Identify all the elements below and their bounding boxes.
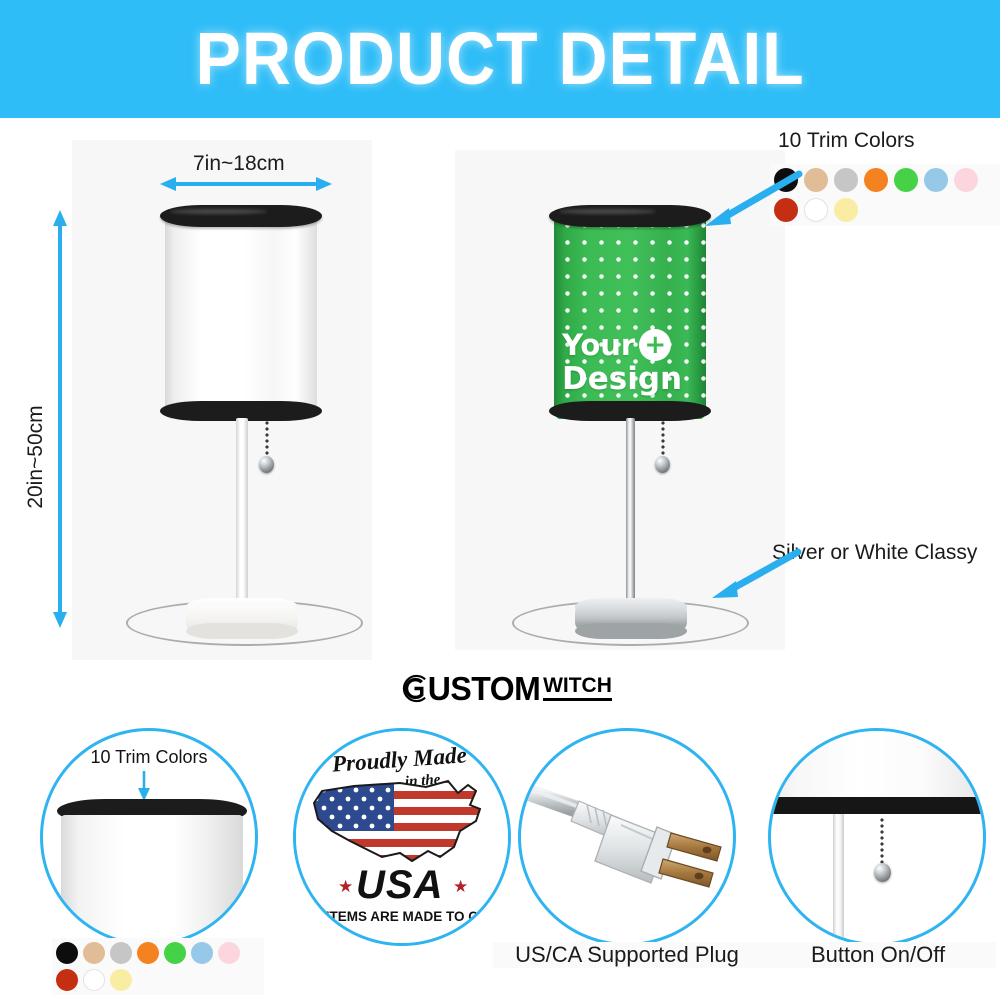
trim-swatch-orange[interactable] — [864, 168, 888, 192]
trim-swatch-light-blue[interactable] — [191, 942, 213, 964]
pull-chain-ball[interactable] — [655, 456, 670, 473]
panel-plug-caption: US/CA Supported Plug — [493, 942, 761, 968]
shade-bottom-surface — [768, 728, 986, 799]
panel-trim-colors: 10 Trim Colors — [40, 728, 258, 946]
trim-swatch-yellow[interactable] — [110, 969, 132, 991]
trim-swatch-brick-red[interactable] — [56, 969, 78, 991]
header-banner: PRODUCT DETAIL — [0, 0, 1000, 118]
height-dimension-label: 20in~50cm — [24, 377, 48, 537]
trim-swatch-green[interactable] — [164, 942, 186, 964]
trim-swatch-white[interactable] — [83, 969, 105, 991]
lamp-base-bottom — [186, 623, 298, 639]
trim-swatch-yellow[interactable] — [834, 198, 858, 222]
star-left-icon: ★ — [338, 877, 353, 897]
trim-swatch-pink[interactable] — [218, 942, 240, 964]
logo-witch-text: WITCH — [543, 675, 612, 696]
lamp-base-bottom — [575, 623, 687, 639]
height-dimension-arrow — [52, 210, 68, 628]
logo-underline — [543, 698, 612, 701]
shade-trim-top — [160, 205, 322, 227]
trim-colors-swatch-row-bottom — [52, 938, 264, 995]
panel-switch-content — [771, 731, 983, 943]
panel-trim-colors-label: 10 Trim Colors — [43, 747, 255, 768]
trim-swatch-green[interactable] — [894, 168, 918, 192]
panel-trim-colors-arrow — [136, 771, 152, 801]
page-title: PRODUCT DETAIL — [195, 22, 804, 96]
trim-callout-arrow — [695, 168, 810, 230]
design-line-1: Your — [562, 331, 635, 360]
pull-chain[interactable] — [879, 817, 885, 869]
shade-surface — [165, 211, 317, 419]
brand-logo: USTOM WITCH — [392, 666, 618, 710]
logo-custom-text: USTOM — [428, 672, 541, 705]
trim-swatch-gray[interactable] — [110, 942, 132, 964]
pull-chain-ball[interactable] — [874, 863, 891, 882]
pull-chain-ball[interactable] — [259, 456, 274, 473]
trim-colors-top-label: 10 Trim Colors — [778, 129, 915, 153]
trim-swatch-light-blue[interactable] — [924, 168, 948, 192]
panel-plug — [518, 728, 736, 946]
usa-subtitle: ALL ITEMS ARE MADE TO ORDER! — [296, 909, 508, 924]
product-detail-infographic: PRODUCT DETAIL 10 Trim Colors 7in~18cm 2… — [0, 0, 1000, 1000]
base-finish-arrow — [700, 548, 810, 600]
shade-trim-top — [549, 205, 711, 227]
logo-c-mark — [398, 673, 429, 704]
usa-script-line-1: Proudly Made — [331, 742, 467, 777]
panel-shade-body — [61, 815, 243, 945]
shade-trim-bar — [768, 797, 986, 814]
star-right-icon: ★ — [453, 877, 468, 897]
usa-word: USA — [356, 863, 443, 908]
your-design-text-block: Your + Design — [562, 329, 698, 396]
panel-trim-colors-content: 10 Trim Colors — [43, 731, 255, 943]
lamp-pole — [236, 418, 248, 611]
trim-swatch-pink[interactable] — [954, 168, 978, 192]
panel-switch — [768, 728, 986, 946]
made-in-usa-badge: Proudly Made in the — [296, 731, 508, 943]
panel-switch-caption: Button On/Off — [760, 942, 996, 968]
width-dimension-label: 7in~18cm — [193, 152, 285, 176]
shade-surface: Your + Design — [554, 211, 706, 419]
trim-swatch-black[interactable] — [56, 942, 78, 964]
power-plug-icon — [525, 775, 736, 905]
width-dimension-arrow — [160, 176, 332, 192]
design-line-2: Design — [562, 363, 698, 396]
trim-swatch-gray[interactable] — [834, 168, 858, 192]
lamp-pole — [833, 814, 844, 942]
plus-icon: + — [639, 329, 671, 361]
trim-swatch-orange[interactable] — [137, 942, 159, 964]
trim-swatch-tan[interactable] — [83, 942, 105, 964]
lampshade-white — [165, 205, 317, 420]
logo-witch-group: WITCH — [543, 675, 612, 701]
lamp-pole — [626, 418, 635, 611]
lampshade-green: Your + Design — [554, 205, 706, 420]
panel-made-in-usa: Proudly Made in the — [293, 728, 511, 946]
